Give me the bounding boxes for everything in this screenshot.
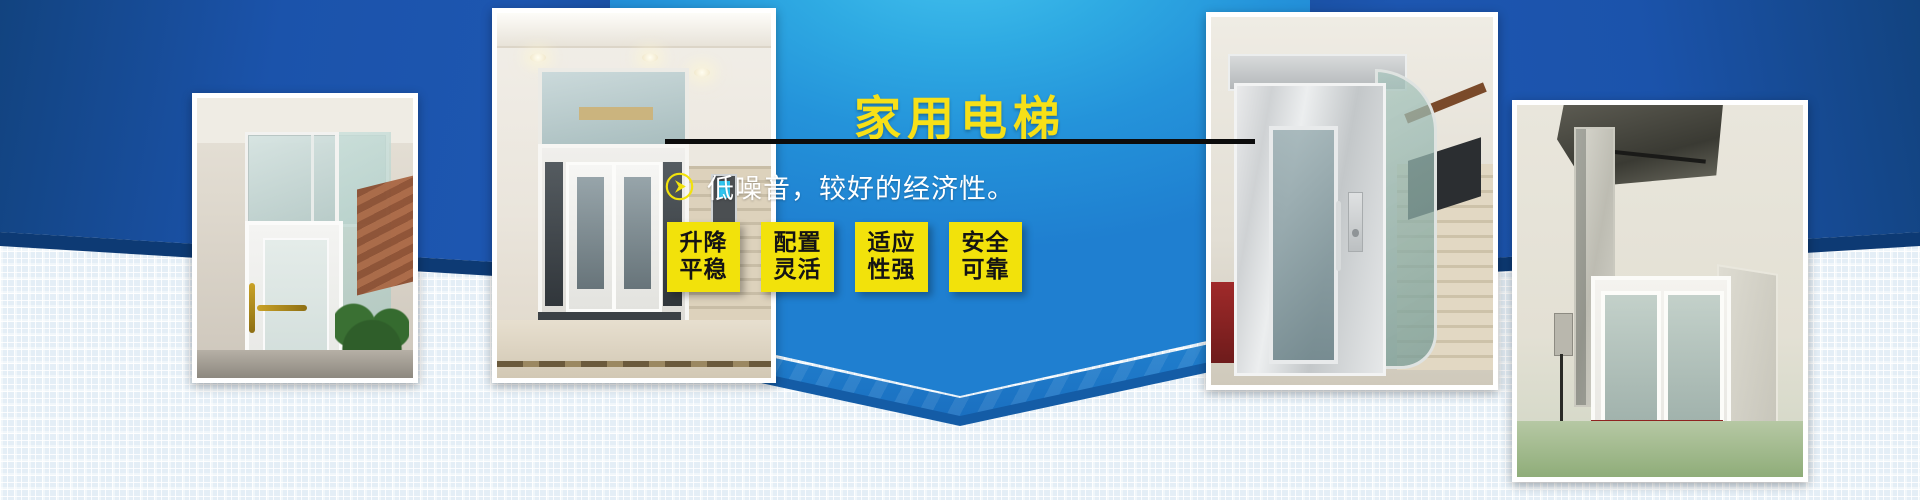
- feature-badge-1-line1: 配置: [774, 230, 822, 257]
- feature-badge-2[interactable]: 适应 性强: [855, 222, 928, 292]
- feature-badge-1[interactable]: 配置 灵活: [761, 222, 834, 292]
- feature-badge-3-line1: 安全: [962, 230, 1010, 257]
- home-elevator-banner: 家用电梯 低噪音，较好的经济性。 升降 平稳 配置 灵活 适应 性强: [0, 0, 1920, 500]
- feature-badge-0-line1: 升降: [680, 230, 728, 257]
- photo-4-image: [1517, 105, 1803, 477]
- banner-subtitle-row: 低噪音，较好的经济性。: [665, 160, 1285, 212]
- title-divider-rule: [665, 139, 1255, 144]
- banner-content: 家用电梯 低噪音，较好的经济性。 升降 平稳 配置 灵活 适应 性强: [610, 0, 1310, 500]
- feature-badge-list: 升降 平稳 配置 灵活 适应 性强 安全 可靠: [667, 222, 1287, 292]
- circled-play-arrow-icon: [665, 172, 694, 201]
- feature-badge-3[interactable]: 安全 可靠: [949, 222, 1022, 292]
- photo-elevator-installation-in-progress-green-floor[interactable]: [1512, 100, 1808, 482]
- feature-badge-3-line2: 可靠: [962, 257, 1010, 284]
- feature-badge-1-line2: 灵活: [774, 257, 822, 284]
- banner-subtitle: 低噪音，较好的经济性。: [707, 167, 1015, 206]
- feature-badge-2-line2: 性强: [868, 257, 916, 284]
- photo-home-elevator-glass-shaft-with-stairs-and-plant[interactable]: [192, 93, 418, 383]
- feature-badge-0-line2: 平稳: [680, 257, 728, 284]
- feature-badge-2-line1: 适应: [868, 230, 916, 257]
- feature-badge-0[interactable]: 升降 平稳: [667, 222, 740, 292]
- photo-1-image: [197, 98, 413, 378]
